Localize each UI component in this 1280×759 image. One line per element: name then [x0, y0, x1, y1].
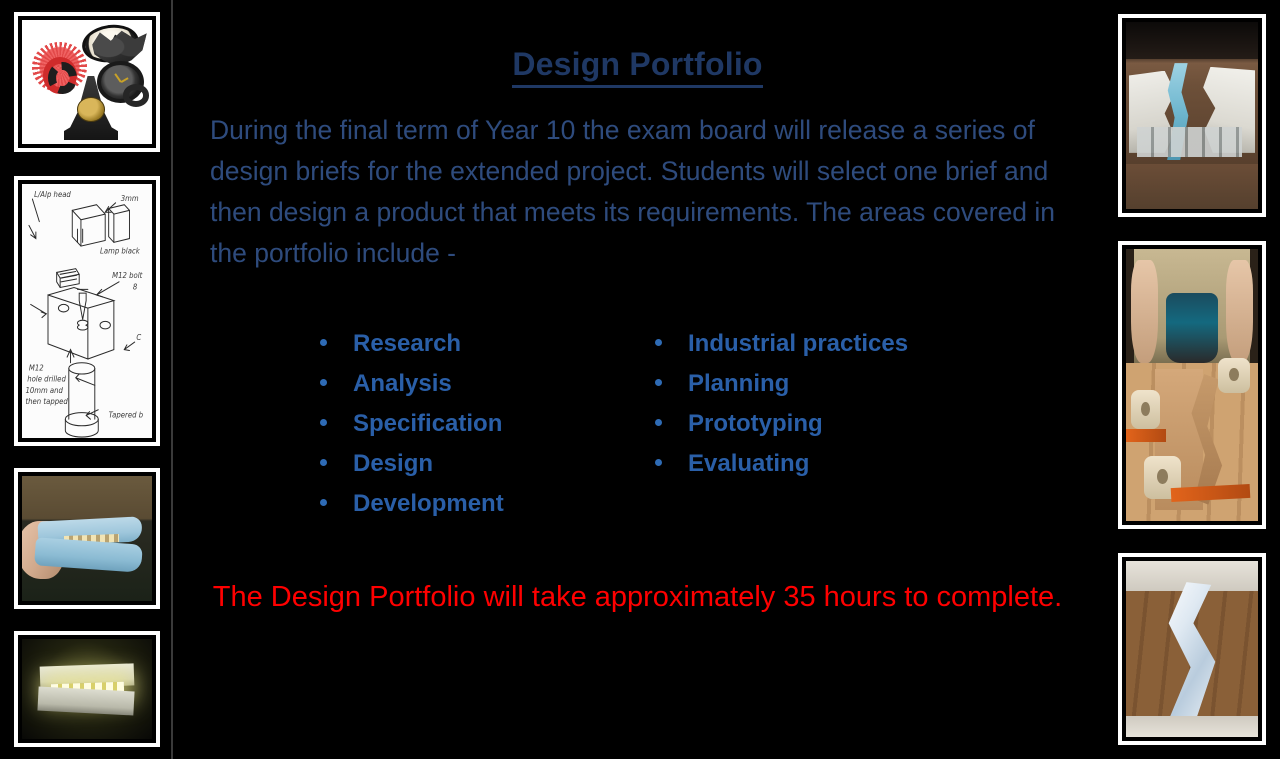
bench-surface: [1126, 164, 1258, 209]
photo-canvas: L/Alp head 3mm Lamp black M12 bolt 8 C M…: [22, 184, 152, 438]
bullet-label: Development: [353, 485, 504, 523]
photo-frame: [14, 631, 160, 747]
photo-exploded-lamp-assembly-sketch[interactable]: L/Alp head 3mm Lamp black M12 bolt 8 C M…: [8, 170, 166, 452]
photo-frame: [1118, 14, 1266, 217]
dark-gear-ring: [48, 62, 77, 94]
bullet-dot-icon: [655, 379, 662, 386]
photo-frame: [1118, 553, 1266, 745]
photo-frame: [14, 468, 160, 609]
mould-art: [1126, 22, 1258, 209]
bullet-label: Research: [353, 325, 461, 363]
list-item[interactable]: Evaluating: [655, 445, 1015, 485]
photo-student-using-plunge-router[interactable]: [1112, 235, 1272, 535]
list-item[interactable]: Research: [320, 325, 650, 365]
bullet-dot-icon: [655, 459, 662, 466]
list-item[interactable]: Analysis: [320, 365, 650, 405]
photo-canvas: [1126, 561, 1258, 737]
list-item[interactable]: Development: [320, 485, 650, 525]
photo-frame: [1118, 241, 1266, 529]
foam-model-art: [22, 476, 152, 601]
bullet-label: Specification: [353, 405, 502, 443]
bullet-label: Planning: [688, 365, 789, 403]
bullet-dot-icon: [320, 339, 327, 346]
plunge-router-icon: [1166, 293, 1219, 364]
photo-frame: L/Alp head 3mm Lamp black M12 bolt 8 C M…: [14, 176, 160, 446]
list-item[interactable]: Specification: [320, 405, 650, 445]
intro-paragraph: During the final term of Year 10 the exa…: [210, 110, 1065, 274]
jig-block-1: [1131, 390, 1160, 428]
svg-text:8: 8: [133, 282, 138, 291]
right-image-column: [1102, 0, 1280, 759]
clamp-1: [1126, 429, 1166, 443]
glowing-prototype-art: [22, 639, 152, 739]
bullet-label: Prototyping: [688, 405, 823, 443]
svg-text:L/Alp head: L/Alp head: [34, 190, 71, 199]
prototype-lower-body: [37, 686, 134, 715]
sketch-linework-icon: L/Alp head 3mm Lamp black M12 bolt 8 C M…: [22, 184, 152, 438]
bullet-dot-icon: [320, 379, 327, 386]
photo-blue-foam-model-in-hand[interactable]: [8, 462, 166, 615]
svg-text:10mm and: 10mm and: [25, 386, 63, 395]
bullet-dot-icon: [320, 459, 327, 466]
photo-illuminated-led-foam-prototype[interactable]: [8, 625, 166, 753]
slide-root: L/Alp head 3mm Lamp black M12 bolt 8 C M…: [0, 0, 1280, 759]
bullet-column-right: Industrial practices Planning Prototypin…: [655, 325, 1015, 485]
list-item[interactable]: Prototyping: [655, 405, 1015, 445]
svg-text:then tapped: then tapped: [25, 397, 68, 406]
list-item[interactable]: Design: [320, 445, 650, 485]
photo-canvas: [22, 639, 152, 739]
left-image-column: L/Alp head 3mm Lamp black M12 bolt 8 C M…: [0, 0, 173, 759]
jig-hole: [1157, 469, 1168, 485]
duration-note: The Design Portfolio will take approxima…: [205, 575, 1070, 619]
bullet-label: Industrial practices: [688, 325, 908, 363]
bullet-column-left: Research Analysis Specification Design D…: [320, 325, 650, 525]
bullet-dot-icon: [655, 419, 662, 426]
jig-hole: [1141, 402, 1150, 416]
bullet-label: Analysis: [353, 365, 452, 403]
bullet-dot-icon: [320, 499, 327, 506]
bullet-label: Design: [353, 445, 433, 483]
bullet-label: Evaluating: [688, 445, 809, 483]
photo-canvas: [1126, 249, 1258, 521]
finished-lamp-art: [1126, 561, 1258, 737]
photo-frame: [14, 12, 160, 152]
photo-vacuum-forming-mould-s-curve[interactable]: [1112, 8, 1272, 223]
mould-cavity-row: [1137, 127, 1243, 157]
svg-text:Tapered b: Tapered b: [109, 410, 144, 419]
svg-text:Lamp black: Lamp black: [100, 246, 141, 255]
photo-canvas: [22, 20, 152, 144]
svg-text:hole drilled: hole drilled: [27, 374, 66, 383]
photo-finished-illuminated-s-lamp[interactable]: [1112, 547, 1272, 751]
router-workshop-art: [1126, 249, 1258, 521]
left-arm: [1131, 260, 1157, 363]
bullet-dot-icon: [655, 339, 662, 346]
workshop-background: [1126, 22, 1258, 59]
list-item[interactable]: Industrial practices: [655, 325, 1015, 365]
s-lamp-glowing-body: [1158, 582, 1227, 719]
right-arm: [1226, 260, 1252, 363]
exploded-sketch-art: L/Alp head 3mm Lamp black M12 bolt 8 C M…: [22, 184, 152, 438]
svg-text:M12: M12: [29, 363, 44, 372]
clock-collage-art: [22, 20, 152, 144]
page-title-text: Design Portfolio: [512, 46, 762, 88]
svg-text:C: C: [136, 333, 142, 342]
photo-canvas: [1126, 22, 1258, 209]
jig-block-3: [1218, 358, 1250, 393]
svg-text:M12 bolt: M12 bolt: [112, 271, 143, 280]
portfolio-areas-list: Research Analysis Specification Design D…: [175, 325, 1100, 535]
photo-gothic-dragon-clocks-collage[interactable]: [8, 6, 166, 158]
main-content: Design Portfolio During the final term o…: [175, 0, 1100, 759]
jig-hole: [1229, 368, 1239, 381]
room-skirting-bottom: [1126, 716, 1258, 737]
svg-text:3mm: 3mm: [121, 194, 139, 203]
list-item[interactable]: Planning: [655, 365, 1015, 405]
photo-canvas: [22, 476, 152, 601]
page-title: Design Portfolio: [175, 46, 1100, 83]
brass-pendulum-disc: [77, 97, 106, 122]
bullet-dot-icon: [320, 419, 327, 426]
gear-icon: [123, 84, 149, 106]
